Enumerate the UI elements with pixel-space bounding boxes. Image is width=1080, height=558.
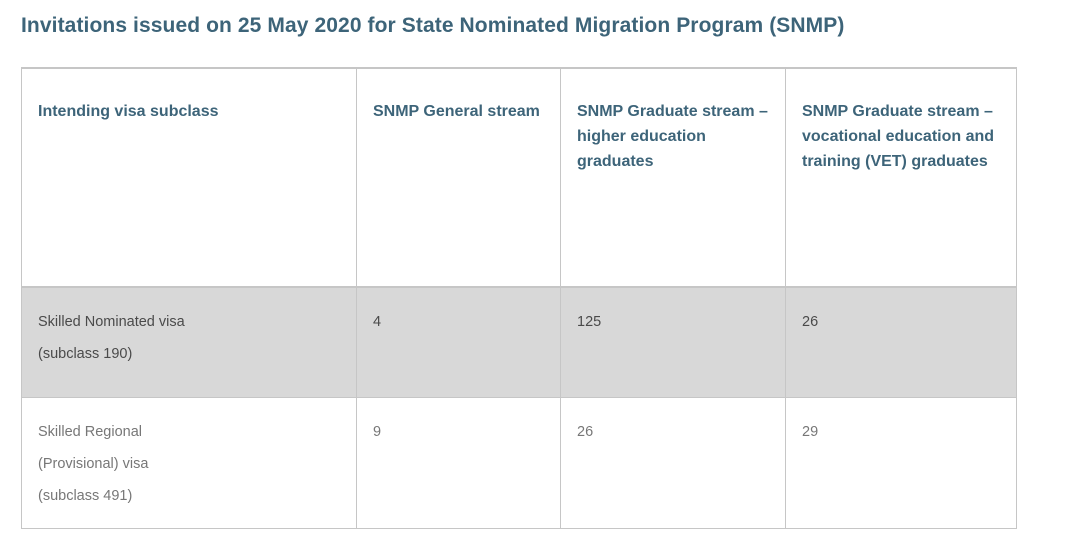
cell-visa-subclass-label: Skilled Regional (Provisional) visa (sub… xyxy=(22,397,357,528)
page-title: Invitations issued on 25 May 2020 for St… xyxy=(21,12,1051,40)
column-header-snmp-general-stream: SNMP General stream xyxy=(357,68,561,287)
page-root: Invitations issued on 25 May 2020 for St… xyxy=(0,0,1080,558)
cell-graduate-higher-education: 26 xyxy=(561,397,786,528)
label-line: Skilled Nominated visa xyxy=(38,306,340,338)
label-line: (subclass 190) xyxy=(38,338,340,370)
table-row: Skilled Regional (Provisional) visa (sub… xyxy=(22,397,1017,528)
cell-general-stream: 4 xyxy=(357,287,561,397)
cell-visa-subclass-label: Skilled Nominated visa (subclass 190) xyxy=(22,287,357,397)
table-row: Skilled Nominated visa (subclass 190) 4 … xyxy=(22,287,1017,397)
cell-graduate-vet: 29 xyxy=(786,397,1017,528)
invitations-table: Intending visa subclass SNMP General str… xyxy=(21,67,1017,529)
table-header-row: Intending visa subclass SNMP General str… xyxy=(22,68,1017,287)
label-line: (subclass 491) xyxy=(38,480,340,512)
column-header-snmp-graduate-vet: SNMP Graduate stream – vocational educat… xyxy=(786,68,1017,287)
table-body: Skilled Nominated visa (subclass 190) 4 … xyxy=(22,287,1017,528)
table-container: Intending visa subclass SNMP General str… xyxy=(21,67,1016,529)
label-line: (Provisional) visa xyxy=(38,448,340,480)
cell-general-stream: 9 xyxy=(357,397,561,528)
column-header-snmp-graduate-higher-education: SNMP Graduate stream – higher education … xyxy=(561,68,786,287)
cell-graduate-vet: 26 xyxy=(786,287,1017,397)
label-line: Skilled Regional xyxy=(38,416,340,448)
column-header-intending-visa-subclass: Intending visa subclass xyxy=(22,68,357,287)
cell-graduate-higher-education: 125 xyxy=(561,287,786,397)
table-head: Intending visa subclass SNMP General str… xyxy=(22,68,1017,287)
